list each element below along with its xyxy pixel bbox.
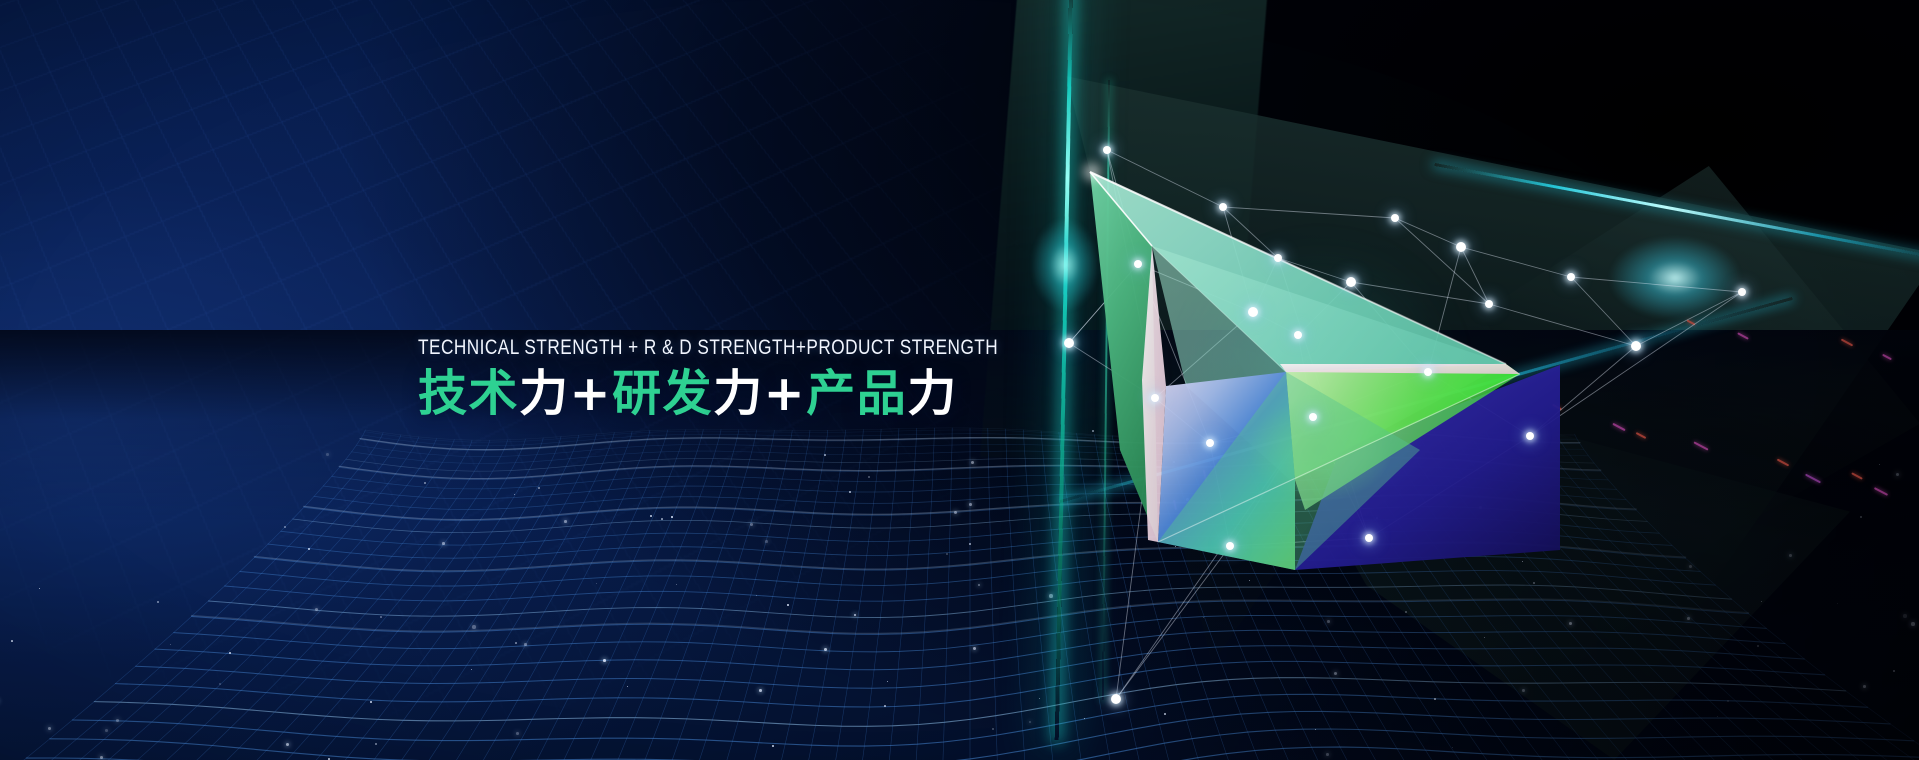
arrow-graphic bbox=[1090, 150, 1560, 600]
headline: 技术力+研发力+产品力 bbox=[418, 368, 1143, 420]
headline-segment-2: + bbox=[570, 365, 613, 422]
hero-banner: TECHNICAL STRENGTH + R & D STRENGTH+PROD… bbox=[0, 0, 1919, 760]
headline-segment-1: 力 bbox=[519, 365, 570, 422]
headline-segment-0: 技术 bbox=[418, 365, 519, 422]
hero-text-block: TECHNICAL STRENGTH + R & D STRENGTH+PROD… bbox=[418, 336, 1143, 420]
mesh-edge bbox=[1530, 292, 1742, 436]
headline-segment-6: 产品 bbox=[806, 365, 907, 422]
mesh-edge bbox=[1571, 277, 1742, 292]
mesh-edge bbox=[1636, 292, 1742, 346]
arrow-tip-sparkle bbox=[1083, 163, 1101, 181]
headline-segment-3: 研发 bbox=[612, 365, 713, 422]
headline-segment-5: + bbox=[764, 365, 807, 422]
eyebrow-tagline: TECHNICAL STRENGTH + R & D STRENGTH+PROD… bbox=[418, 336, 998, 359]
headline-segment-7: 力 bbox=[907, 365, 958, 422]
mesh-edge bbox=[1571, 277, 1636, 346]
headline-segment-4: 力 bbox=[713, 365, 764, 422]
